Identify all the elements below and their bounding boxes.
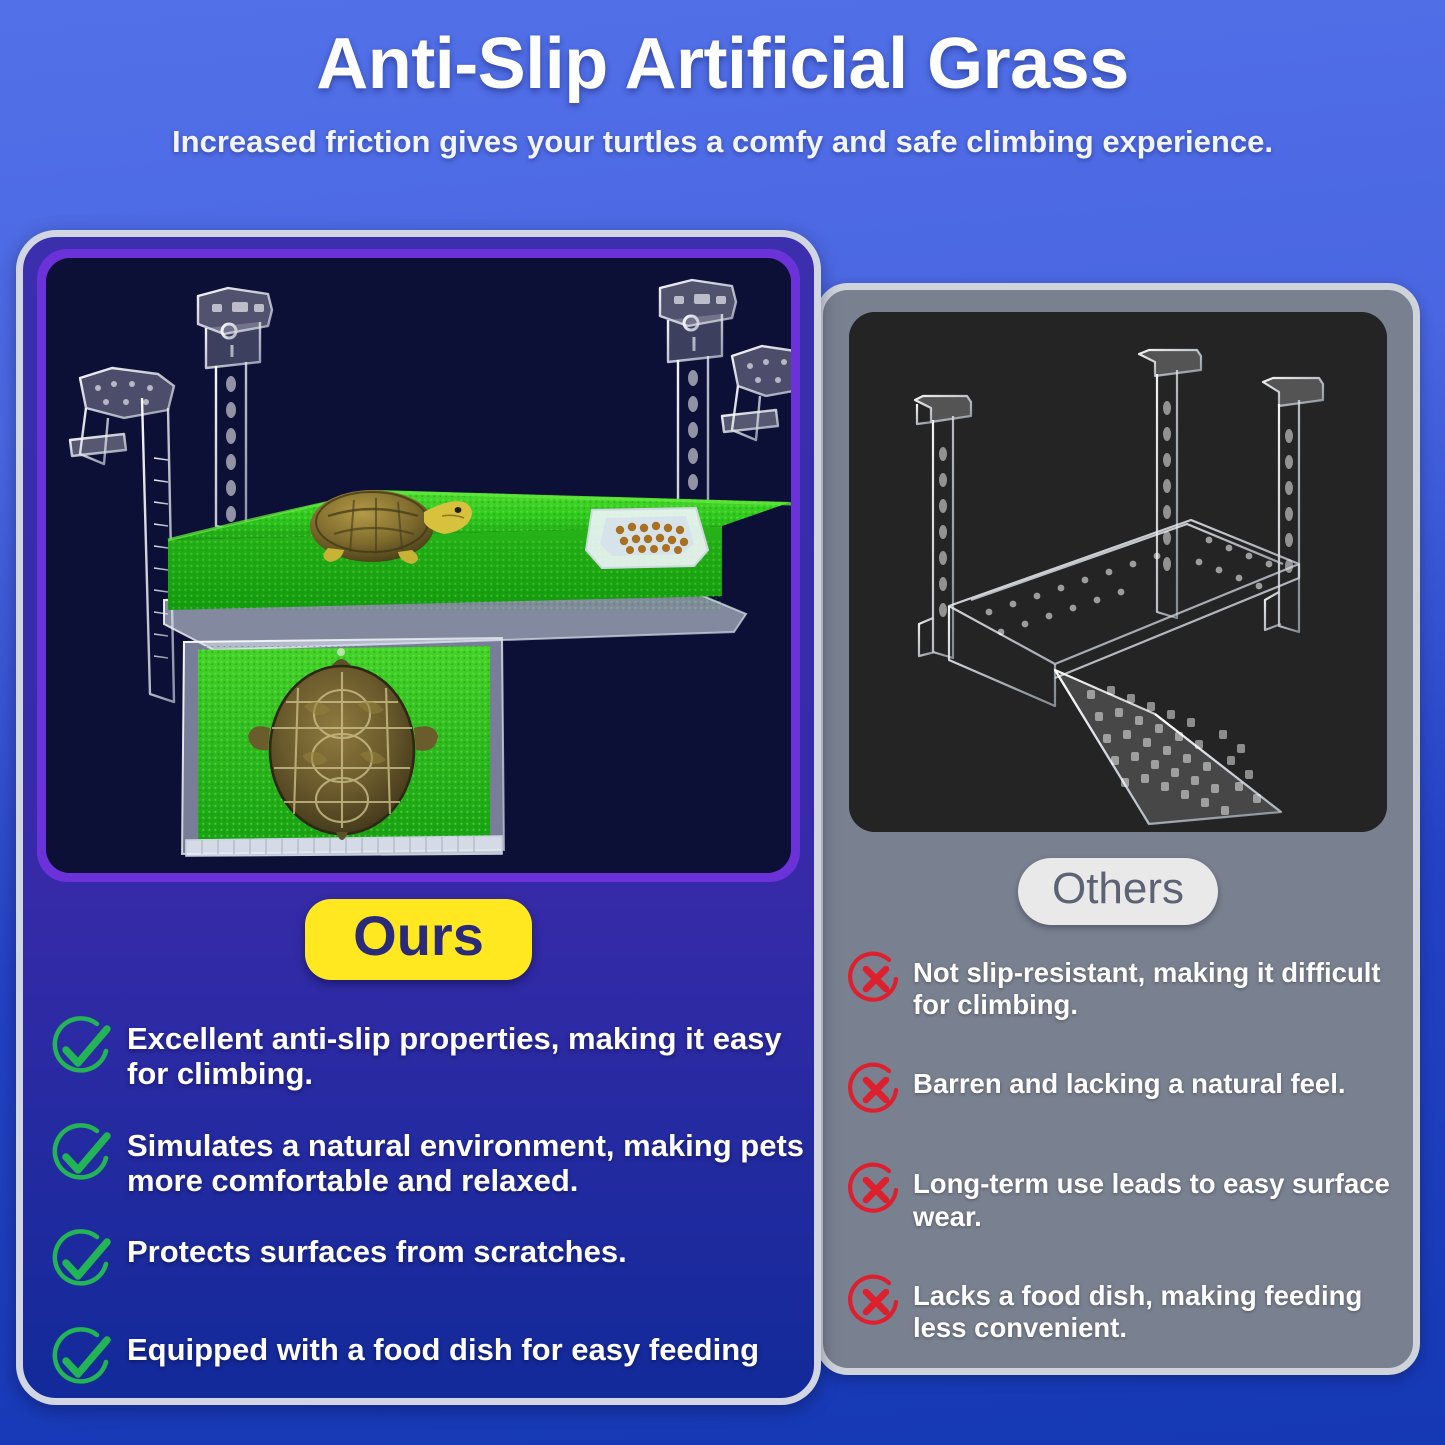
others-badge: Others [1018,858,1218,925]
list-item-label: Long-term use leads to easy surface wear… [907,1163,1407,1232]
list-item: Excellent anti-slip properties, making i… [47,1015,815,1092]
list-item-label: Simulates a natural environment, making … [117,1122,815,1199]
others-badge-container: Others [823,858,1413,925]
check-circle-icon [47,1324,117,1394]
cross-circle-icon [845,948,907,1010]
list-item: Lacks a food dish, making feeding less c… [845,1275,1407,1344]
header: Anti-Slip Artificial Grass Increased fri… [0,0,1445,200]
list-item-label: Protects surfaces from scratches. [117,1228,627,1269]
food-dish [586,508,708,568]
list-item: Equipped with a food dish for easy feedi… [47,1326,815,1394]
list-item: Simulates a natural environment, making … [47,1122,815,1199]
ours-photo-frame [37,249,800,882]
page-title: Anti-Slip Artificial Grass [0,0,1445,100]
ours-badge: Ours [305,899,532,980]
cross-circle-icon [845,1159,907,1221]
ours-badge-container: Ours [23,899,814,980]
check-circle-icon [47,1226,117,1296]
list-item-label: Not slip-resistant, making it difficult … [907,952,1407,1021]
list-item-label: Equipped with a food dish for easy feedi… [117,1326,759,1367]
ours-grass-platform-illustration [46,258,791,873]
others-comparison-panel: Others Not slip-resistant, making it dif… [816,283,1420,1375]
list-item-label: Barren and lacking a natural feel. [907,1063,1346,1100]
check-circle-icon [47,1013,117,1083]
list-item-label: Lacks a food dish, making feeding less c… [907,1275,1407,1344]
list-item: Long-term use leads to easy surface wear… [845,1163,1407,1232]
list-item: Not slip-resistant, making it difficult … [845,952,1407,1021]
ours-pros-list: Excellent anti-slip properties, making i… [47,1015,815,1394]
ours-product-photo [46,258,791,873]
list-item-label: Excellent anti-slip properties, making i… [117,1015,815,1092]
others-cons-list: Not slip-resistant, making it difficult … [845,952,1407,1344]
check-circle-icon [47,1120,117,1190]
others-acrylic-frame-illustration [849,312,1387,832]
others-product-photo [849,312,1387,832]
list-item: Barren and lacking a natural feel. [845,1063,1407,1121]
list-item: Protects surfaces from scratches. [47,1228,815,1296]
page-subtitle: Increased friction gives your turtles a … [0,124,1445,160]
cross-circle-icon [845,1271,907,1333]
cross-circle-icon [845,1059,907,1121]
ours-comparison-panel: Ours Excellent anti-slip properties, mak… [16,230,821,1405]
